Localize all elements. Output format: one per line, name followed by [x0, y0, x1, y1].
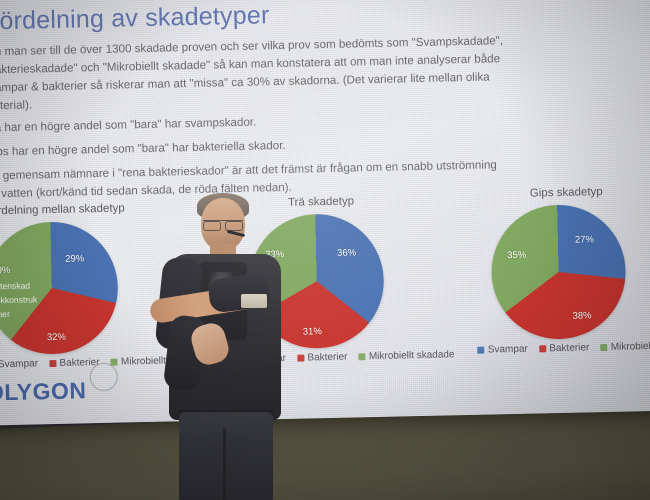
legend-item-mikrobiellt: Mikrobiellt skadade: [600, 340, 650, 353]
pie-1-slice-label-bakterier: 32%: [47, 332, 66, 343]
presenter: [163, 196, 291, 500]
legend-swatch-red-icon: [539, 345, 546, 352]
legend-item-svampar: Svampar: [0, 358, 38, 370]
pie-2-slice-label-bakterier: 31%: [303, 326, 322, 337]
pie-1-slice-label-mikrobiellt: 39%: [0, 265, 11, 276]
annotation-line-2: Riskkonstruk: [0, 294, 37, 307]
slide-body-line-6: Gips har en högre andel som "bara" har b…: [0, 139, 286, 159]
legend-item-svampar: Svampar: [477, 344, 528, 356]
legend-swatch-red-icon: [297, 355, 304, 362]
presentation-photo: Fördelning av skadetyper Om man ser till…: [0, 0, 650, 500]
slide-body-line-5: Trä har en högre andel som "bara" har sv…: [0, 116, 256, 135]
legend-label-bakterier: Bakterier: [307, 352, 347, 364]
legend-swatch-green-icon: [358, 353, 365, 360]
legend-label-svampar: Svampar: [0, 358, 38, 370]
legend-label-mikrobiellt: Mikrobiellt skadade: [611, 340, 650, 353]
circle-graphic-icon: [89, 363, 118, 392]
presenter-leg-seam: [223, 428, 226, 500]
polygon-logo: POLYGON: [0, 377, 87, 407]
glasses-icon: [203, 220, 243, 229]
legend-item-bakterier: Bakterier: [297, 352, 348, 364]
legend-label-bakterier: Bakterier: [549, 342, 589, 354]
pie-chart-3: [490, 204, 627, 341]
legend-swatch-red-icon: [49, 360, 56, 367]
chart-1-title: Fördelning mellan skadetyp: [0, 202, 125, 217]
name-badge: [241, 294, 267, 308]
legend-swatch-green-icon: [600, 344, 607, 351]
legend-swatch-blue-icon: [477, 347, 484, 354]
pie-3-slice-label-mikrobiellt: 35%: [507, 250, 526, 261]
pie-3-slice-label-svampar: 27%: [575, 234, 594, 245]
pie-2-slice-label-svampar: 36%: [337, 247, 356, 258]
projected-slide: Fördelning av skadetyper Om man ser till…: [0, 0, 650, 426]
pie-3-slice-label-bakterier: 38%: [572, 310, 591, 321]
legend-label-mikrobiellt: Mikrobiellt skadade: [369, 349, 455, 362]
slide-body-line-7: En gemensam nämnare i "rena bakterieskad…: [0, 158, 497, 182]
annotation-line-3: tioner: [0, 309, 10, 321]
presenter-legs: [179, 412, 273, 500]
legend-label-svampar: Svampar: [488, 344, 528, 356]
slide-title: Fördelning av skadetyper: [0, 1, 270, 36]
annotation-line-1: Vattenskad: [0, 281, 30, 294]
slide-body-line-4: material).: [0, 98, 32, 112]
chart-3-legend: Svampar Bakterier Mikrobiellt skadade: [477, 340, 650, 356]
pie-1-slice-label-svampar: 29%: [65, 253, 84, 264]
chart-2-title: Trä skadetyp: [288, 195, 354, 208]
chart-3-title: Gips skadetyp: [530, 186, 603, 200]
legend-item-bakterier: Bakterier: [539, 342, 590, 354]
legend-item-mikrobiellt: Mikrobiellt skadade: [358, 349, 454, 362]
